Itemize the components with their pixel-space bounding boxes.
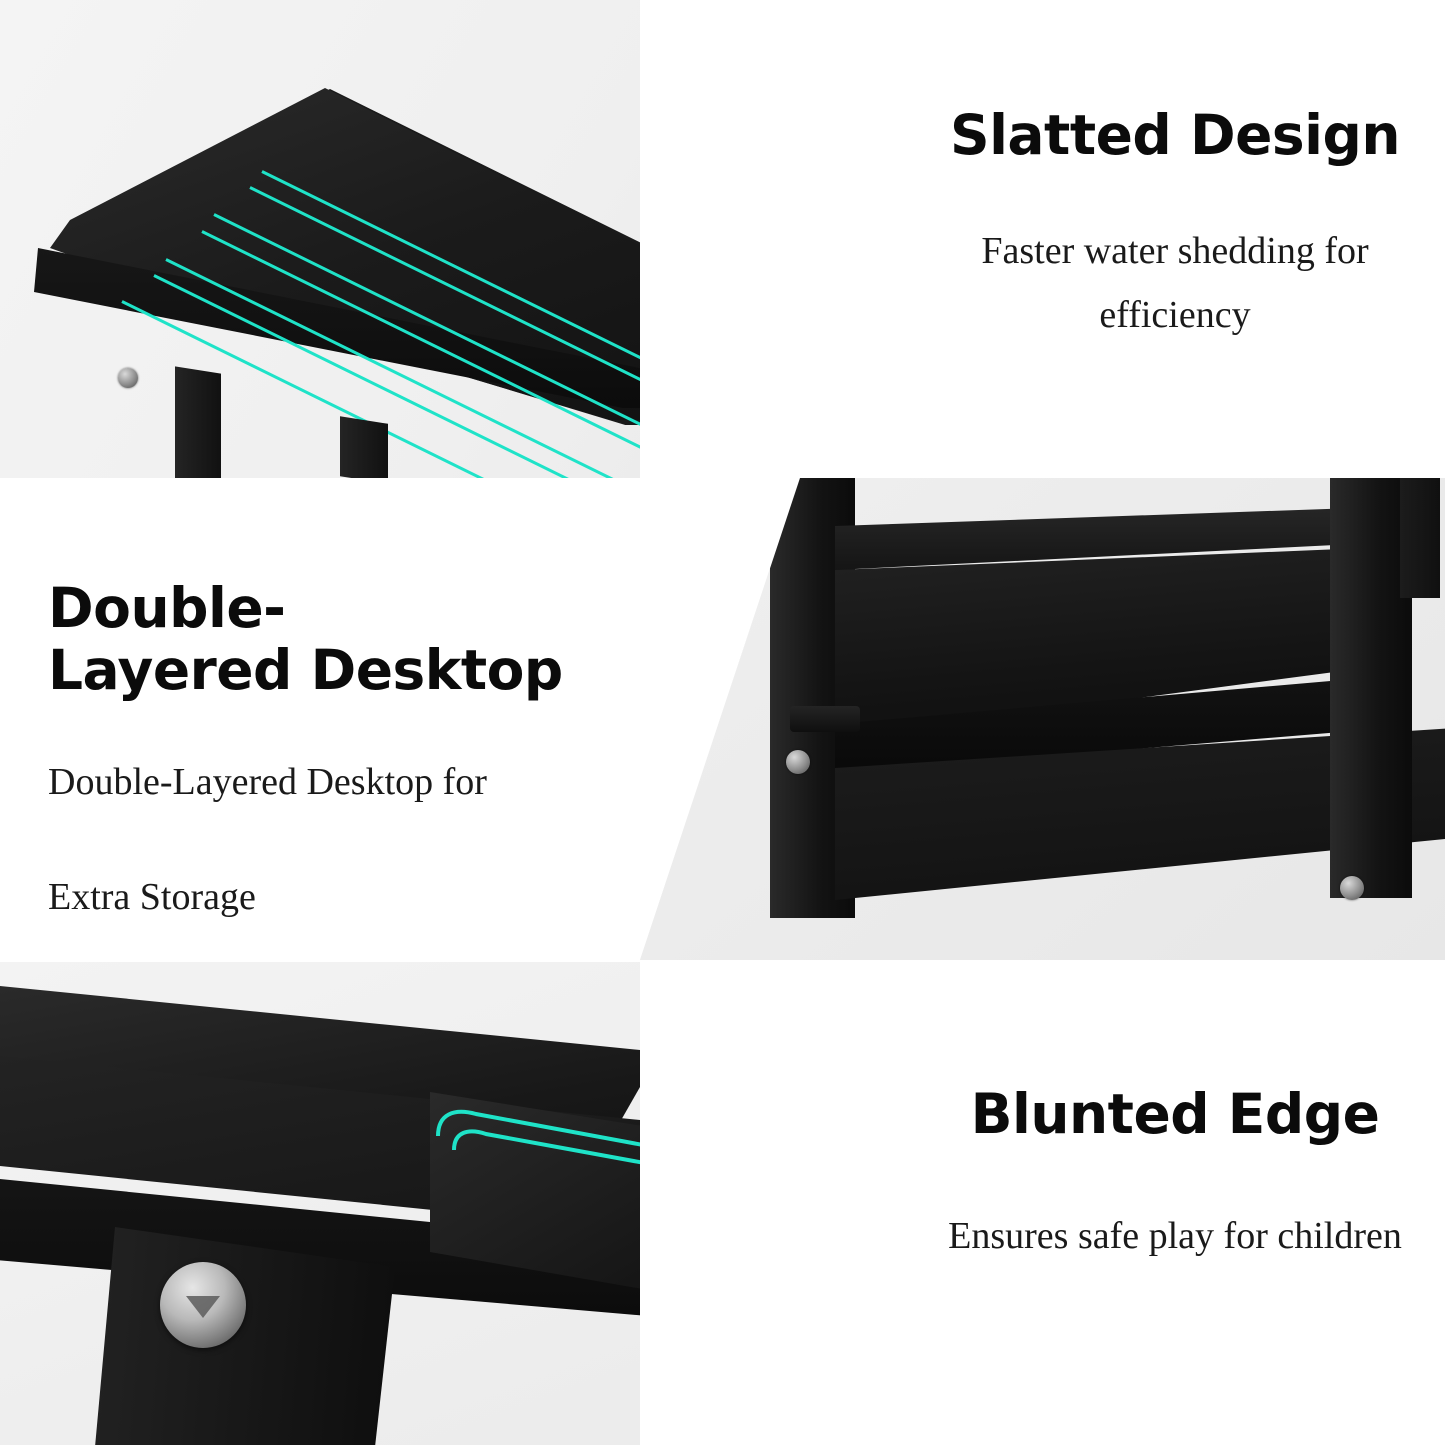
- panel-double-layered-text: Double- Layered Desktop Double-Layered D…: [0, 478, 700, 960]
- shelf-support-rail: [790, 706, 860, 732]
- blunted-edge-heading: Blunted Edge: [945, 1084, 1405, 1146]
- screw-icon: [118, 368, 138, 388]
- screw-icon: [1340, 876, 1364, 900]
- panel-double-layered-image: [640, 478, 1445, 960]
- screw-icon: [160, 1262, 246, 1348]
- slatted-design-heading: Slatted Design: [940, 105, 1410, 167]
- table-leg-left: [175, 366, 221, 478]
- table-leg-right: [340, 416, 388, 478]
- feature-collage: Slatted Design Faster water shedding for…: [0, 0, 1445, 1445]
- double-layered-subtitle-line2: Extra Storage: [48, 864, 648, 931]
- panel-blunted-edge-text: Blunted Edge Ensures safe play for child…: [640, 962, 1445, 1445]
- shelf-leg-far-right: [1400, 478, 1440, 598]
- double-layered-heading-line1: Double-: [48, 578, 648, 640]
- slatted-design-subtitle: Faster water shedding for efficiency: [940, 219, 1410, 348]
- double-layered-subtitle-line1: Double-Layered Desktop for: [48, 749, 648, 816]
- blunted-edge-subtitle: Ensures safe play for children: [945, 1204, 1405, 1269]
- screw-icon: [786, 750, 810, 774]
- panel-slatted-design-text: Slatted Design Faster water shedding for…: [640, 0, 1445, 478]
- double-layered-heading-line2: Layered Desktop: [48, 640, 648, 702]
